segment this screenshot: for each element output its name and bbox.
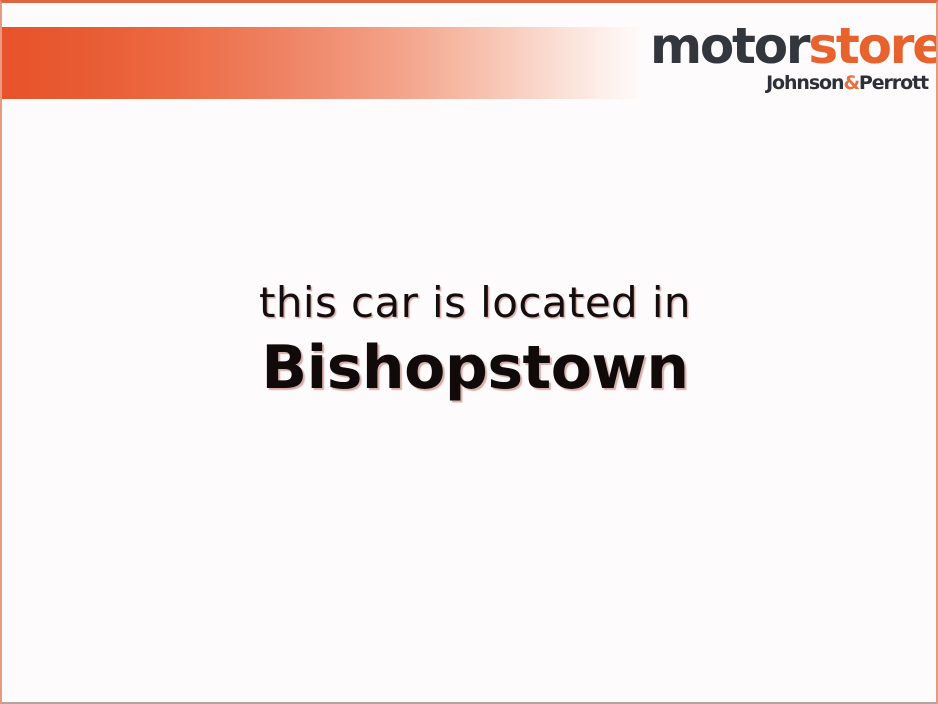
logo-sub-johnson: Johnson bbox=[766, 72, 843, 94]
logo-sub-perrott: Perrott bbox=[859, 72, 928, 94]
logo-wordmark: motorstore bbox=[650, 21, 928, 71]
header-banner: motorstore Johnson&Perrott bbox=[2, 3, 936, 106]
logo-subline: Johnson&Perrott bbox=[650, 72, 928, 94]
motorstore-logo[interactable]: motorstore Johnson&Perrott bbox=[650, 21, 928, 101]
logo-word-store: store bbox=[808, 17, 938, 75]
location-message-place: Bishopstown bbox=[10, 331, 938, 405]
orange-gradient-band bbox=[0, 27, 640, 99]
location-message-intro: this car is located in bbox=[10, 275, 938, 331]
slide-canvas: motorstore Johnson&Perrott this car is l… bbox=[0, 0, 938, 704]
location-message: this car is located in Bishopstown bbox=[2, 275, 938, 405]
logo-sub-ampersand: & bbox=[843, 72, 858, 94]
logo-word-motor: motor bbox=[650, 17, 808, 75]
